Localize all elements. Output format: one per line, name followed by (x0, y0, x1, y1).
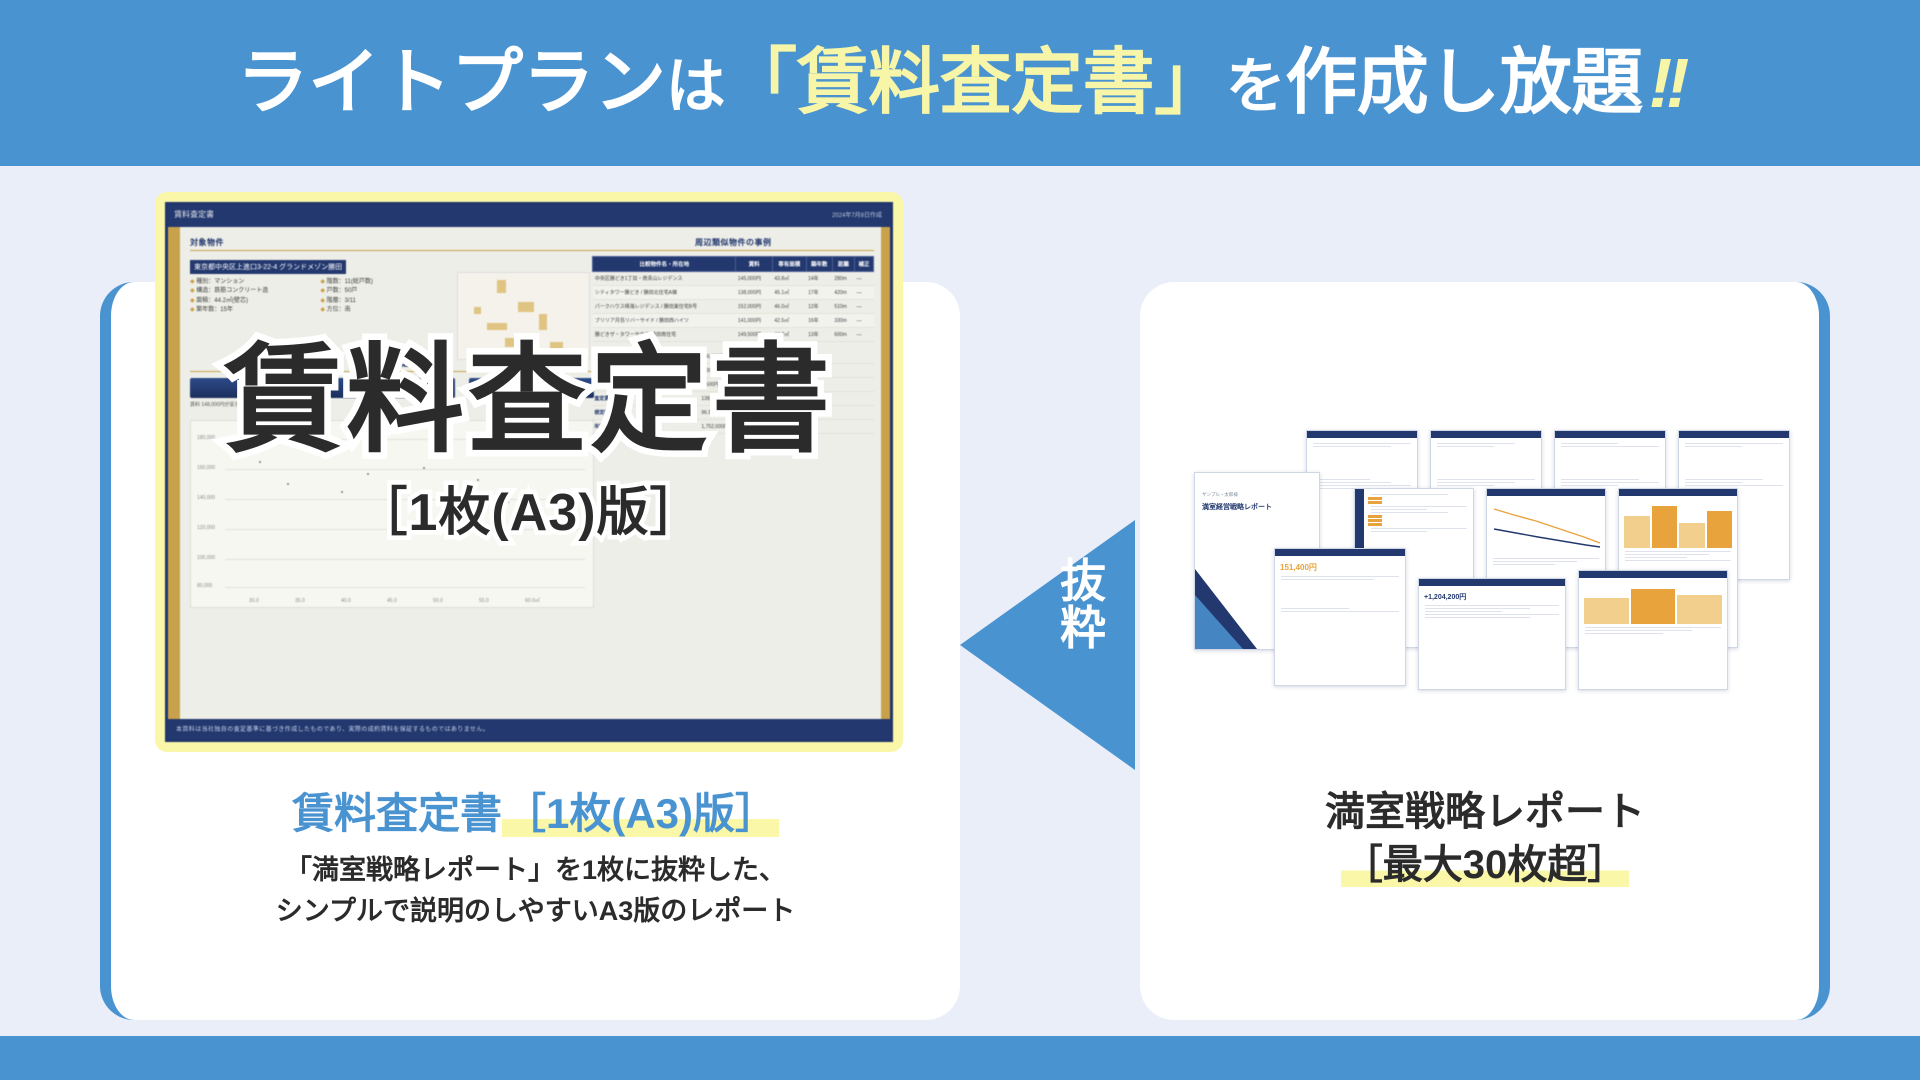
summary-val: 1,752,000円 (699, 420, 874, 434)
summary-val: 3,500円 (699, 378, 874, 392)
cell-adj: — (855, 300, 874, 314)
description-line: 「満室戦略レポート」を1枚に抜粋した、 (111, 850, 960, 891)
cell-rent: 149,500円 (736, 328, 772, 342)
table-row: シティタワー勝どき / 勝田北住宅A棟 138,000円 45.1㎡ 17年 4… (593, 286, 874, 300)
cell-rent: 152,000円 (736, 300, 772, 314)
property-spec: 戸数：50戸 (320, 287, 440, 296)
document-topbar-date: 2024年7月8日作成 (832, 210, 882, 219)
chart-y-tick: 100,000 (197, 555, 215, 561)
summary-row: 年間想定収入 1,752,000円 (592, 420, 874, 434)
header-seg-2: は (666, 57, 726, 117)
property-map-image (457, 272, 590, 360)
chart-y-tick: 120,000 (197, 525, 215, 531)
report-page: 151,400円 (1274, 548, 1406, 686)
document-right-column: 周辺類似物件の事例 比較物件名・所在地 賃料 専有面積 築年数 距離 補正 中央… (592, 237, 874, 434)
summary-row: 想定賃料 146,000円 (592, 350, 874, 364)
plus-operator: + (320, 384, 325, 393)
property-spec: 方位：南 (320, 306, 440, 315)
description-line: シンプルで説明のしやすいA3版のレポート (111, 891, 960, 932)
right-caption-marked: ［最大30枚超］ (1341, 843, 1630, 887)
cell-dist: 330m (832, 314, 854, 328)
trend-line-chart (1490, 499, 1602, 551)
cell-age: 17年 (806, 286, 832, 300)
document-topbar-title: 賃料査定書 (174, 209, 214, 220)
assessment-result-button[interactable]: 査定結果 (469, 378, 594, 398)
report-page (1578, 570, 1728, 690)
left-card-caption: 賃料査定書［1枚(A3)版］ 「満室戦略レポート」を1枚に抜粋した、 シンプルで… (111, 790, 960, 932)
cell-dist: 420m (832, 286, 854, 300)
col-header: 築年数 (806, 257, 832, 272)
assessment-base-rent-button[interactable]: 基準賃料 (190, 378, 315, 398)
chart-x-tick: 40.0 (341, 598, 351, 604)
summary-row: 想定稼働率 96.5% (592, 406, 874, 420)
rent-assessment-thumbnail: 賃料査定書 2024年7月8日作成 対象物件 東京都中央区上進口3-22-4 グ… (155, 192, 903, 752)
chart-y-tick: 160,000 (197, 465, 215, 471)
document-sheet: 賃料査定書 2024年7月8日作成 対象物件 東京都中央区上進口3-22-4 グ… (165, 202, 893, 742)
cell-age: 16年 (806, 314, 832, 328)
right-caption-line1: 満室戦略レポート (1140, 786, 1830, 839)
col-header: 専有面積 (772, 257, 806, 272)
assessment-summary-table: 想定賃料 146,000円 管理費 8,000円 共益費／その他 3,500円 … (592, 350, 874, 434)
report-cover-title: 満室経営戦略レポート (1202, 503, 1272, 514)
left-caption-title: 賃料査定書［1枚(A3)版］ (111, 790, 960, 838)
property-specs-list: 種別：マンション 構造：鉄筋コンクリート造 面積：44.2㎡(壁芯) 築年数：1… (190, 278, 441, 315)
cell-area: 45.1㎡ (772, 286, 806, 300)
summary-key: 共益費／その他 (592, 378, 699, 392)
col-header: 賃料 (736, 257, 772, 272)
property-name: 東京都中央区上進口3-22-4 グランドメゾン勝田 (190, 260, 346, 274)
report-page: +1,204,200円 (1418, 578, 1566, 690)
cell-area: 46.0㎡ (772, 300, 806, 314)
table-row: 中央区勝どき1丁目・南青山レジデンス 145,000円 43.8㎡ 14年 28… (593, 272, 874, 286)
summary-key: 査定賃料レンジ (592, 392, 699, 406)
report-delta-value: +1,204,200円 (1424, 592, 1560, 602)
cell-rent: 138,000円 (736, 286, 772, 300)
table-row: ブリリア月島リバーサイド / 勝田西ハイツ 141,000円 42.5㎡ 16年… (593, 314, 874, 328)
right-caption-line2: ［最大30枚超］ (1140, 839, 1830, 892)
property-spec: 階層：3/11 (320, 297, 440, 306)
assessment-note: 賃料 148,000円が妥当 (190, 402, 594, 410)
section-comparables-heading: 周辺類似物件の事例 (592, 237, 874, 251)
report-kpi-value: 151,400円 (1280, 562, 1400, 573)
cell-adj: — (855, 272, 874, 286)
comparables-table: 比較物件名・所在地 賃料 専有面積 築年数 距離 補正 中央区勝どき1丁目・南青… (592, 256, 874, 342)
summary-row: 査定賃料レンジ 138,000〜152,000円 (592, 392, 874, 406)
summary-key: 想定稼働率 (592, 406, 699, 420)
left-caption-description: 「満室戦略レポート」を1枚に抜粋した、 シンプルで説明のしやすいA3版のレポート (111, 850, 960, 932)
assessment-adjustment-button[interactable]: 補正値加算 (330, 378, 455, 398)
col-header: 比較物件名・所在地 (593, 257, 736, 272)
property-spec: 面積：44.2㎡(壁芯) (190, 297, 310, 306)
chart-y-tick: 140,000 (197, 495, 215, 501)
right-card-caption: 満室戦略レポート ［最大30枚超］ (1140, 786, 1830, 892)
cell-dist: 280m (832, 272, 854, 286)
header-exclaim: !! (1649, 48, 1684, 118)
chart-x-tick: 30.0 (249, 598, 259, 604)
cell-name: ブリリア月島リバーサイド / 勝田西ハイツ (593, 314, 736, 328)
chart-y-tick: 180,000 (197, 435, 215, 441)
header-seg-3: 「賃料査定書」 (725, 47, 1226, 119)
summary-val: 146,000円 (699, 350, 874, 364)
cell-age: 13年 (806, 328, 832, 342)
extract-arrow: 抜粋 (960, 520, 1135, 770)
property-spec: 種別：マンション (190, 278, 310, 287)
document-footer-bar: 本資料は当社独自の査定基準に基づき作成したものであり、実際の成約賃料を保証するも… (168, 719, 890, 739)
cell-rent: 145,000円 (736, 272, 772, 286)
left-caption-marked: ［1枚(A3)版］ (502, 790, 779, 837)
equals-operator: = (460, 384, 465, 393)
header-seg-5: 作成し放題 (1285, 47, 1643, 119)
summary-row: 共益費／その他 3,500円 (592, 378, 874, 392)
cell-area: 44.7㎡ (772, 328, 806, 342)
cell-age: 12年 (806, 300, 832, 314)
cell-rent: 141,000円 (736, 314, 772, 328)
document-gold-left-rule (168, 227, 180, 719)
section-assessment-heading: 賃料査定結果 (190, 358, 594, 372)
property-spec: 築年数：15年 (190, 306, 310, 315)
document-gold-right-rule (881, 227, 890, 719)
report-cover-recipient: サンプル・太郎様 (1202, 492, 1238, 498)
cell-dist: 510m (832, 300, 854, 314)
document-left-column: 対象物件 東京都中央区上進口3-22-4 グランドメゾン勝田 種別：マンション … (190, 237, 594, 608)
header-seg-4: を (1226, 57, 1286, 117)
summary-val: 96.5% (699, 406, 874, 420)
full-report-thumbnail: サンプル・太郎様 満室経営戦略レポート 151,400円 +1,204,200円 (1178, 430, 1798, 720)
cell-name: シティタワー勝どき / 勝田北住宅A棟 (593, 286, 736, 300)
cell-name: 中央区勝どき1丁目・南青山レジデンス (593, 272, 736, 286)
rent-scatter-chart: 180,000 160,000 140,000 120,000 100,000 … (190, 420, 594, 608)
col-header: 距離 (832, 257, 854, 272)
header-title: ライトプランは「賃料査定書」を作成し放題!! (237, 47, 1684, 119)
document-topbar: 賃料査定書 2024年7月8日作成 (168, 205, 890, 227)
assessment-formula-row: 基準賃料 + 補正値加算 = 査定結果 (190, 378, 594, 398)
summary-row: 管理費 8,000円 (592, 364, 874, 378)
chart-x-tick: 55.0 (479, 598, 489, 604)
document-footer-note: 本資料は当社独自の査定基準に基づき作成したものであり、実際の成約賃料を保証するも… (176, 724, 489, 733)
summary-val: 138,000〜152,000円 (699, 392, 874, 406)
summary-key: 年間想定収入 (592, 420, 699, 434)
cell-adj: — (855, 286, 874, 300)
chart-x-tick: 60.0㎡ (525, 597, 540, 604)
summary-key: 想定賃料 (592, 350, 699, 364)
bottom-strip (0, 1036, 1920, 1080)
summary-val: 8,000円 (699, 364, 874, 378)
chart-x-tick: 50.0 (433, 598, 443, 604)
cell-name: パークハウス晴海レジデンス / 勝田東住宅B号 (593, 300, 736, 314)
table-row: 勝どきザ・タワーサウス 勝田南住宅 149,500円 44.7㎡ 13年 600… (593, 328, 874, 342)
cell-area: 43.8㎡ (772, 272, 806, 286)
chart-y-tick: 80,000 (197, 583, 212, 589)
cell-adj: — (855, 314, 874, 328)
arrow-label: 抜粋 (1048, 558, 1118, 653)
section-property-heading: 対象物件 (190, 237, 594, 251)
cell-age: 14年 (806, 272, 832, 286)
chart-x-tick: 35.0 (295, 598, 305, 604)
cell-adj: — (855, 328, 874, 342)
page-header: ライトプランは「賃料査定書」を作成し放題!! (0, 0, 1920, 166)
col-header: 補正 (855, 257, 874, 272)
property-spec: 階数：11(総戸数) (320, 278, 440, 287)
chart-x-tick: 45.0 (387, 598, 397, 604)
cell-area: 42.5㎡ (772, 314, 806, 328)
cell-name: 勝どきザ・タワーサウス 勝田南住宅 (593, 328, 736, 342)
summary-key: 管理費 (592, 364, 699, 378)
left-caption-plain: 賃料査定書 (292, 790, 502, 837)
cell-dist: 600m (832, 328, 854, 342)
table-row: パークハウス晴海レジデンス / 勝田東住宅B号 152,000円 46.0㎡ 1… (593, 300, 874, 314)
property-spec: 構造：鉄筋コンクリート造 (190, 287, 310, 296)
header-seg-1: ライトプラン (237, 47, 666, 119)
table-header-row: 比較物件名・所在地 賃料 専有面積 築年数 距離 補正 (593, 257, 874, 272)
